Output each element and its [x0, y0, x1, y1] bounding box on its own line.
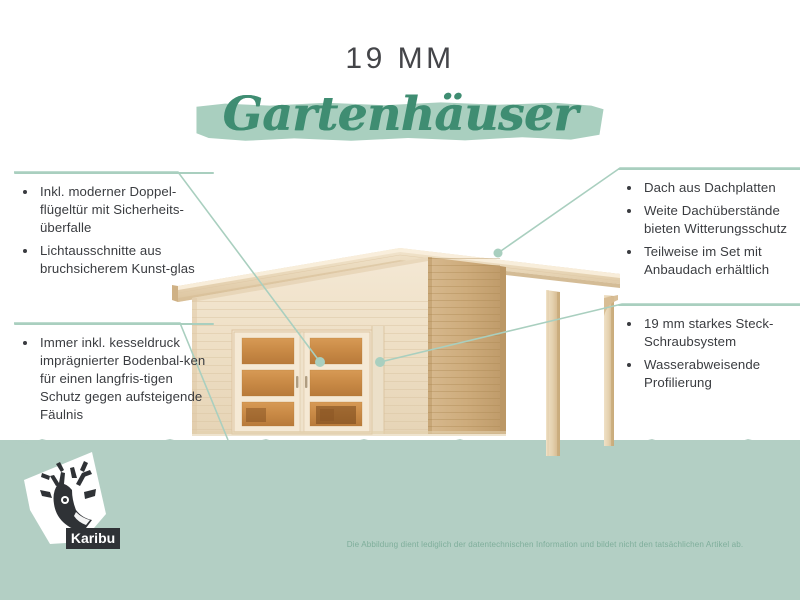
list-item: Lichtausschnitte aus bruchsicherem Kunst…: [14, 242, 214, 278]
canopy-post-front: [546, 290, 560, 456]
canopy-post-rear: [604, 295, 614, 446]
feature-list: Inkl. moderner Doppel-flügeltür mit Sich…: [14, 183, 214, 278]
list-item: 19 mm starkes Steck-Schraubsystem: [618, 315, 800, 351]
karibu-logo[interactable]: Karibu: [20, 448, 124, 554]
door-right-leaf: [302, 332, 370, 432]
feature-block-bottom-right: 19 mm starkes Steck-Schraubsystem Wasser…: [618, 304, 800, 397]
door-left-leaf: [234, 332, 302, 432]
product-title-wrap: Gartenhäuser: [196, 88, 603, 145]
list-item: Teilweise im Set mit Anbaudach erhältlic…: [618, 243, 800, 279]
list-item: Dach aus Dachplatten: [618, 179, 800, 197]
feature-block-bottom-left: Immer inkl. kesseldruck imprägnierter Bo…: [14, 323, 214, 429]
logo-brand-text: Karibu: [71, 530, 115, 546]
feature-list: Immer inkl. kesseldruck imprägnierter Bo…: [14, 334, 214, 424]
feature-list: Dach aus Dachplatten Weite Dachüberständ…: [618, 179, 800, 279]
garden-house-illustration: [170, 238, 620, 460]
title-block: 19 MM Gartenhäuser: [0, 44, 800, 145]
list-item: Immer inkl. kesseldruck imprägnierter Bo…: [14, 334, 214, 424]
feature-block-top-right: Dach aus Dachplatten Weite Dachüberständ…: [618, 168, 800, 284]
feature-rule: [618, 168, 800, 170]
page-title: Gartenhäuser: [222, 90, 577, 139]
thickness-label: 19 MM: [0, 44, 800, 74]
feature-rule: [14, 323, 214, 325]
list-item: Wasserabweisende Profilierung: [618, 356, 800, 392]
feature-block-top-left: Inkl. moderner Doppel-flügeltür mit Sich…: [14, 172, 214, 283]
feature-list: 19 mm starkes Steck-Schraubsystem Wasser…: [618, 315, 800, 392]
list-item: Inkl. moderner Doppel-flügeltür mit Sich…: [14, 183, 214, 237]
feature-rule: [618, 304, 800, 306]
disclaimer-text: Die Abbildung dient lediglich der datent…: [300, 540, 790, 549]
poster-canvas: 19 MM Gartenhäuser Inkl. moderner Doppel…: [0, 0, 800, 600]
feature-rule: [14, 172, 214, 174]
list-item: Weite Dachüberstände bieten Witterungssc…: [618, 202, 800, 238]
